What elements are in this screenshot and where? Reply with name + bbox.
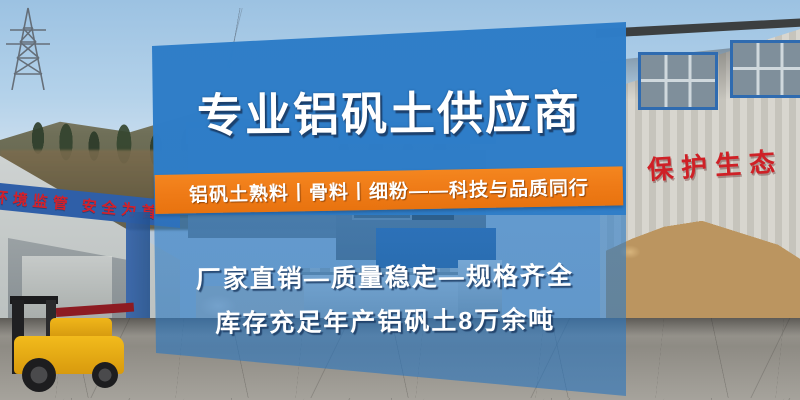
subtitle-line-2: 库存充足年产铝矾土8万余吨 <box>0 296 785 348</box>
banner-image: 环境监管 安全为首 保护生态 专业铝矾土供应商 铝矾土熟料丨骨料丨细粉——科技与… <box>0 0 800 400</box>
page-title: 专业铝矾土供应商 <box>0 81 789 148</box>
forklift-front-wheel <box>22 358 56 392</box>
forklift-rear-wheel <box>92 362 118 388</box>
subtitle-group: 厂家直销—质量稳定—规格齐全 库存充足年产铝矾土8万余吨 <box>0 252 785 348</box>
transmission-pylon-icon <box>4 4 66 90</box>
